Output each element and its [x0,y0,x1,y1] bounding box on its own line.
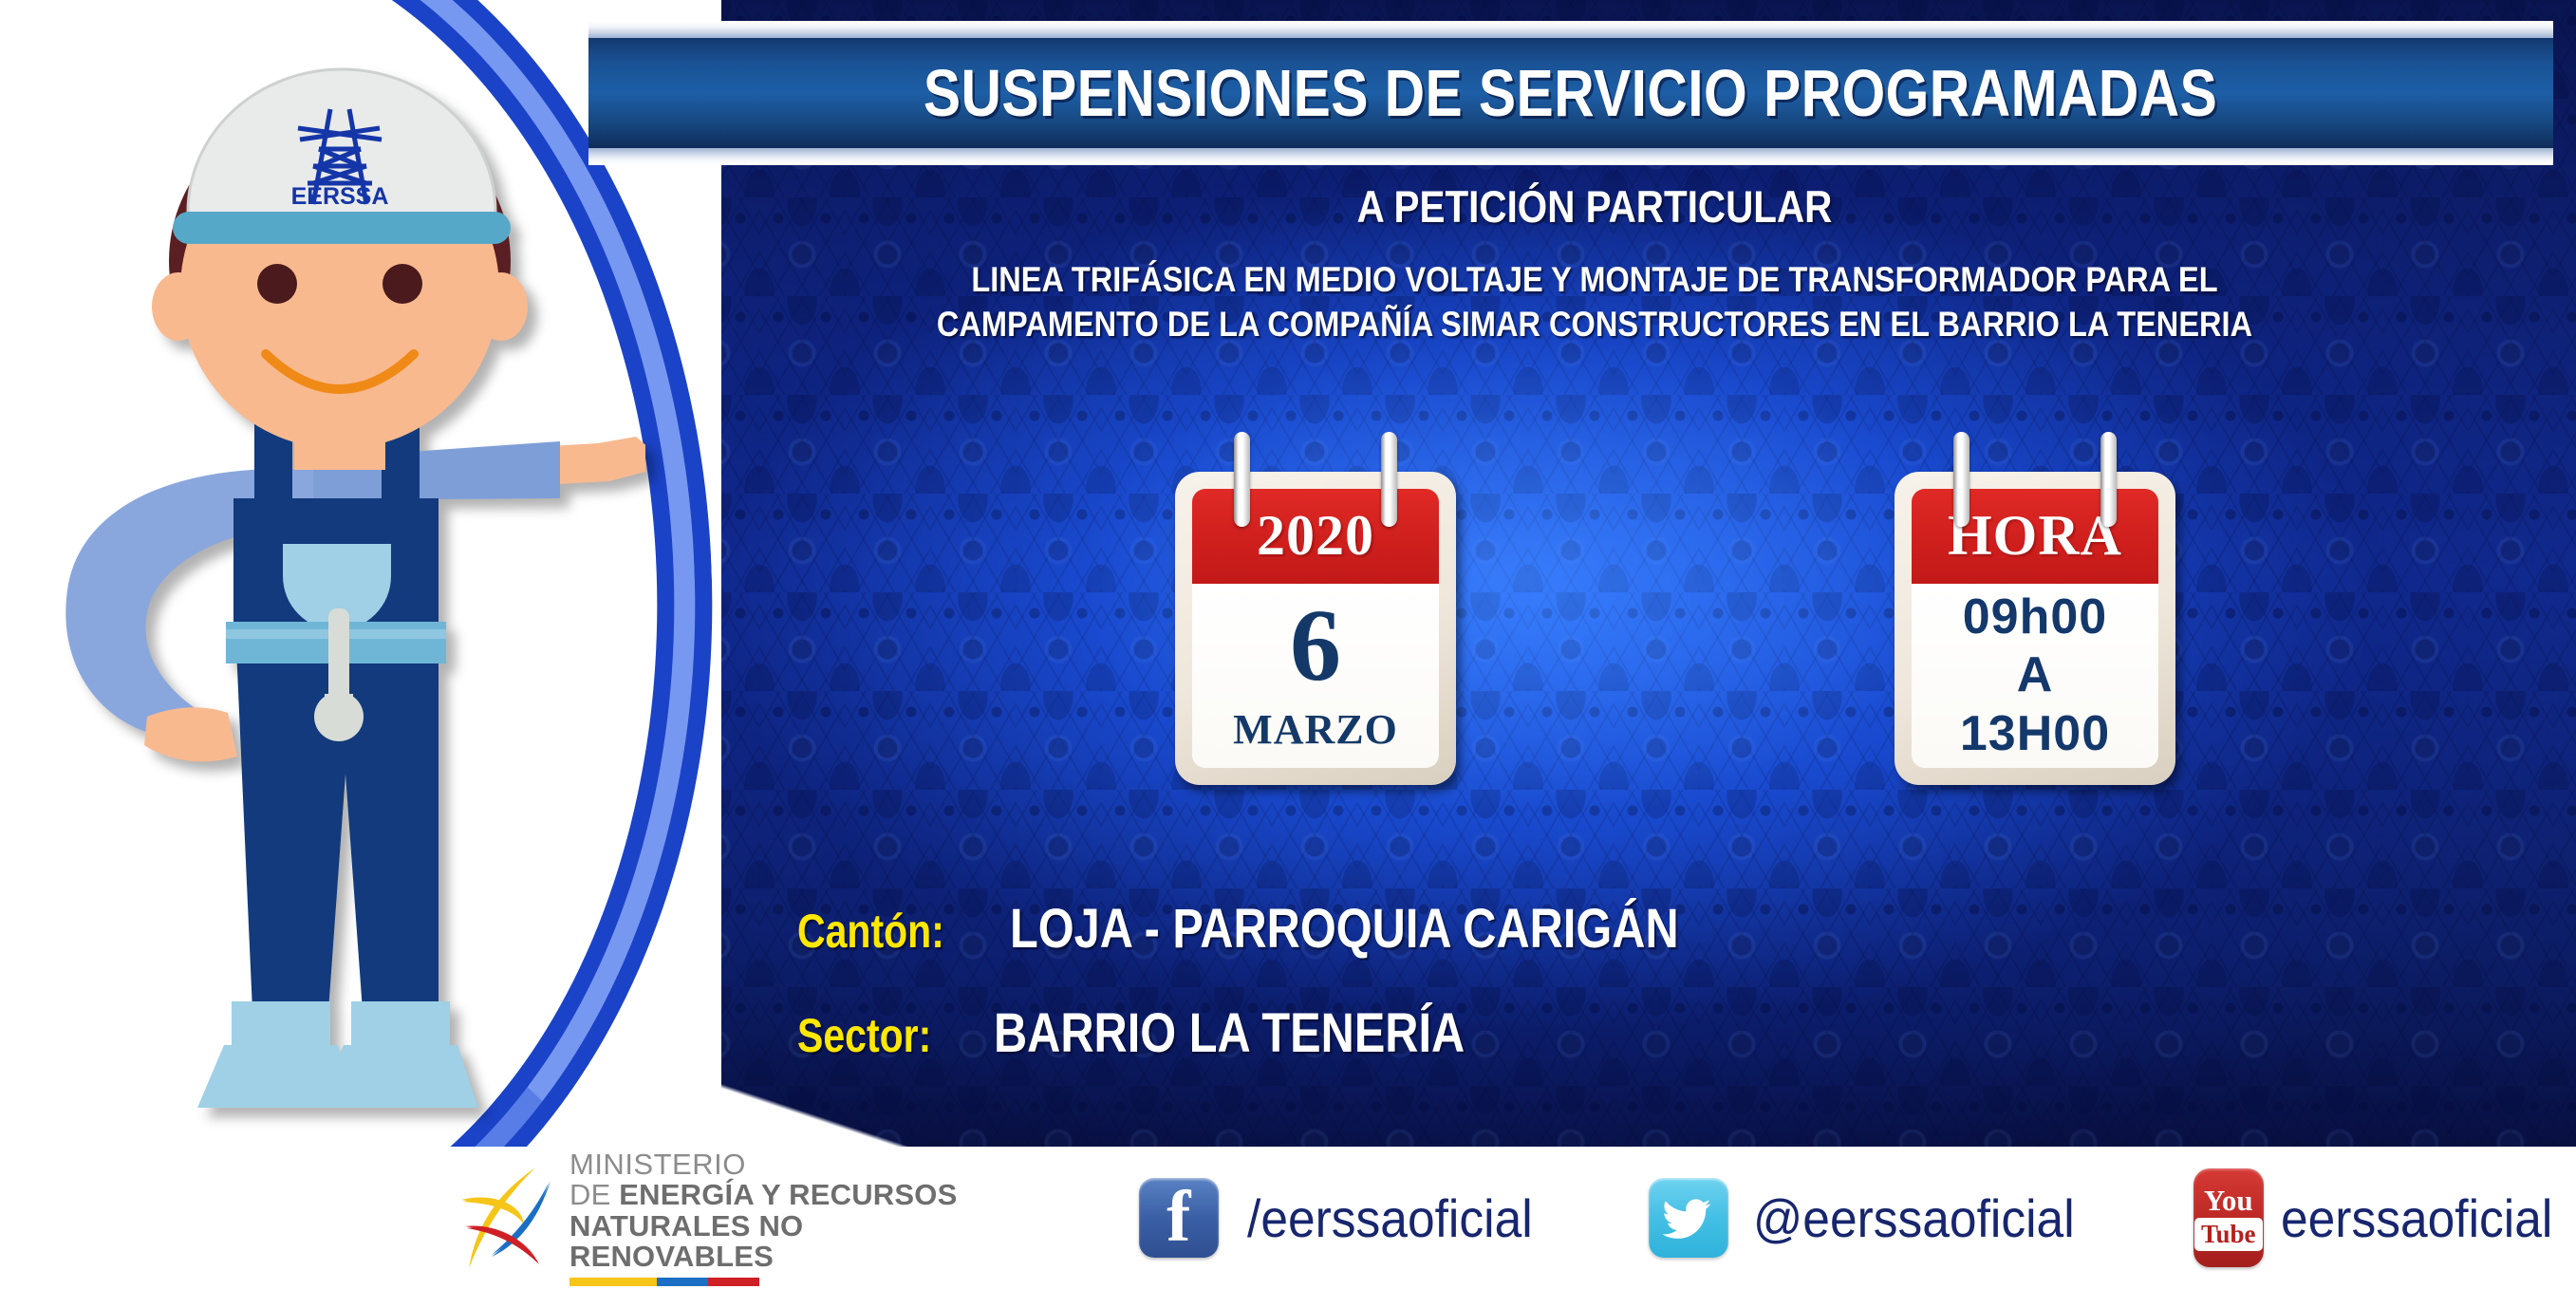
ministry-line-1: MINISTERIO [569,1149,978,1180]
youtube-handle[interactable]: eerssaoficial [2281,1187,2552,1249]
facebook-icon[interactable] [1139,1178,1219,1258]
announcement-description: A PETICIÓN PARTICULAR LINEA TRIFÁSICA EN… [664,180,2525,347]
helmet-logo-text: EERSSA [291,183,389,210]
facebook-handle[interactable]: /eerssaoficial [1247,1187,1533,1249]
page-title-text: SUSPENSIONES DE SERVICIO PROGRAMADAS [924,55,2217,131]
youtube-you-text: You [2204,1186,2253,1215]
date-calendar-card: 2020 6 MARZO [1175,472,1456,785]
ministry-line-2-bold: ENERGÍA Y RECURSOS [619,1178,957,1211]
youtube-tube-text: Tube [2194,1218,2263,1251]
time-calendar-header: HORA [1912,489,2158,584]
eerssa-worker-mascot: EERSSA [28,52,645,1153]
calendar-month: MARZO [1233,705,1398,754]
calendar-day: 6 [1290,598,1341,696]
time-to: 13H00 [1960,705,2110,763]
ministry-logo: MINISTERIO DE ENERGÍA Y RECURSOS NATURAL… [444,1149,978,1286]
ministry-line-2-light: DE [569,1178,619,1211]
poster-root: SUSPENSIONES DE SERVICIO PROGRAMADAS A P… [0,0,2576,1289]
time-separator: A [2017,646,2054,704]
ministry-emblem-icon [444,1162,556,1274]
twitter-icon[interactable] [1649,1178,1728,1258]
canton-row: Cantón: LOJA - PARROQUIA CARIGÁN [797,897,1806,961]
ecuador-tricolor-bar [569,1278,759,1286]
canton-value: LOJA - PARROQUIA CARIGÁN [1010,897,1679,961]
social-twitter[interactable]: @eerssaoficial [1649,1178,2102,1258]
hora-label: HORA [1948,503,2122,569]
description-line-2: CAMPAMENTO DE LA COMPAÑÍA SIMAR CONSTRUC… [776,302,2414,346]
ministry-text: MINISTERIO DE ENERGÍA Y RECURSOS NATURAL… [569,1149,978,1286]
social-youtube[interactable]: You Tube eerssaoficial [2193,1168,2576,1267]
ministry-line-2: DE ENERGÍA Y RECURSOS [569,1180,978,1210]
sector-row: Sector: BARRIO LA TENERÍA [797,1001,1555,1065]
reason-text: A PETICIÓN PARTICULAR [794,180,2395,233]
canton-label: Cantón: [797,904,944,959]
page-title: SUSPENSIONES DE SERVICIO PROGRAMADAS [588,38,2553,148]
header-top-strip [588,21,2553,38]
panel-glow-overlay [588,0,2576,1153]
main-blue-panel [588,0,2576,1153]
sector-value: BARRIO LA TENERÍA [994,1001,1465,1065]
header-bottom-strip [588,148,2553,165]
calendar-year: 2020 [1257,503,1374,569]
social-facebook[interactable]: /eerssaoficial [1139,1178,1558,1258]
footer-bar: MINISTERIO DE ENERGÍA Y RECURSOS NATURAL… [0,1147,2576,1289]
time-from: 09h00 [1963,588,2107,646]
calendar-rings [1175,432,1456,489]
twitter-handle[interactable]: @eerssaoficial [1753,1187,2075,1249]
youtube-icon[interactable]: You Tube [2193,1168,2264,1267]
calendar-year-header: 2020 [1192,489,1439,584]
description-line-1: LINEA TRIFÁSICA EN MEDIO VOLTAJE Y MONTA… [776,257,2414,302]
sector-label: Sector: [797,1008,931,1063]
time-calendar-rings [1895,432,2175,489]
ministry-line-3: NATURALES NO RENOVABLES [569,1211,978,1272]
time-calendar-card: HORA 09h00 A 13H00 [1895,472,2175,785]
header-band: SUSPENSIONES DE SERVICIO PROGRAMADAS [588,21,2553,165]
